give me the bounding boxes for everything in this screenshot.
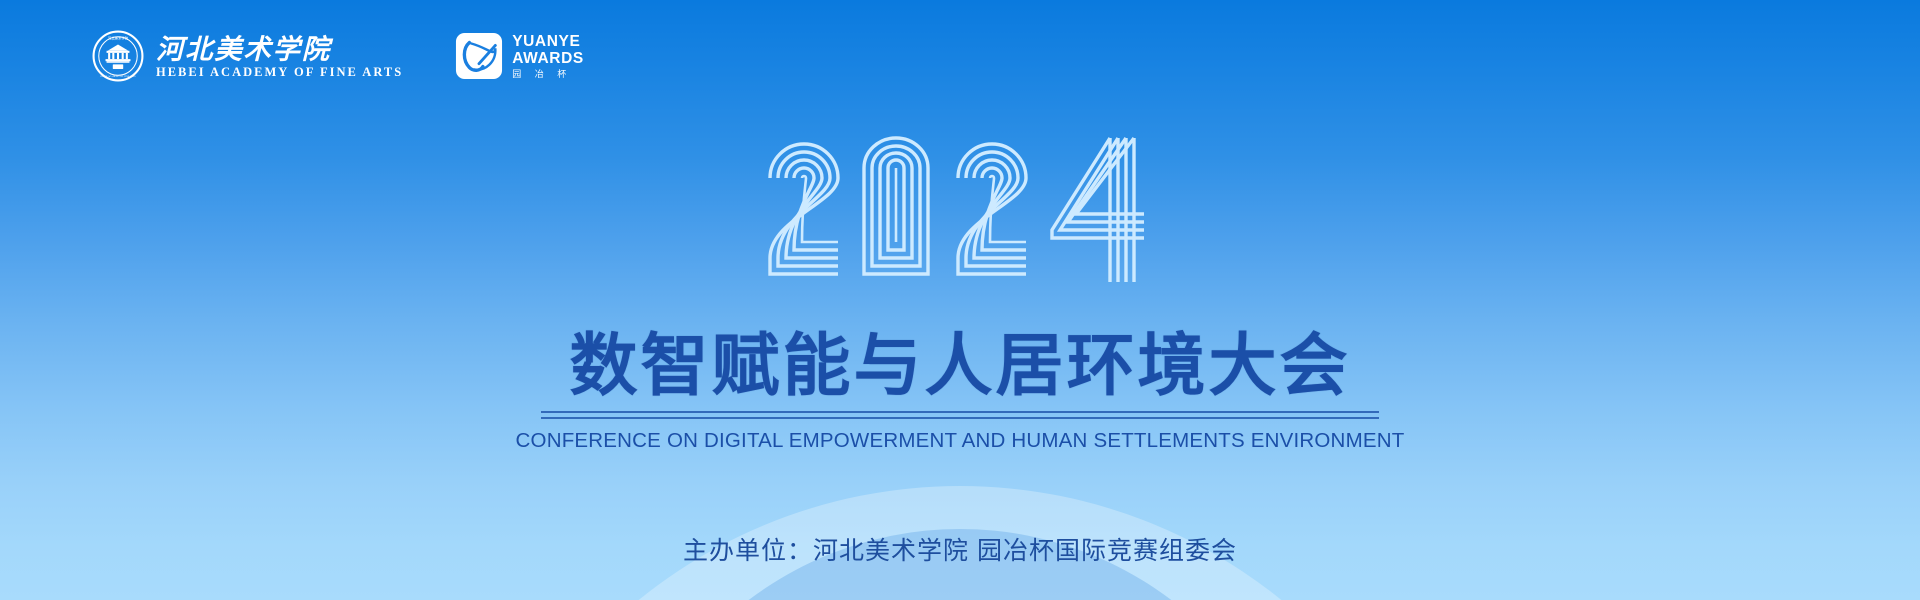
hebei-academy-logo: 河北美术学院 HEBEI ACADEMY OF FINE ARTS 河北美术学院… <box>92 30 403 82</box>
title-divider-line-1 <box>541 411 1379 413</box>
conference-title-english: CONFERENCE ON DIGITAL EMPOWERMENT AND HU… <box>0 429 1920 453</box>
hebei-english-name: HEBEI ACADEMY OF FINE ARTS <box>156 66 403 79</box>
hebei-academy-wordmark: 河北美术学院 HEBEI ACADEMY OF FINE ARTS <box>156 33 403 79</box>
university-seal-icon: 河北美术学院 HEBEI ACADEMY OF FINE ARTS <box>92 30 144 82</box>
hebei-chinese-name-icon: 河北美术学院 <box>156 33 344 65</box>
yuanye-chinese-name: 园 冶 杯 <box>512 70 572 79</box>
title-block: 数智赋能与人居环境大会 CONFERENCE ON DIGITAL EMPOWE… <box>0 330 1920 453</box>
yuanye-mark-icon <box>455 32 503 80</box>
conference-title-chinese: 数智赋能与人居环境大会 <box>0 330 1920 402</box>
logo-row: 河北美术学院 HEBEI ACADEMY OF FINE ARTS 河北美术学院… <box>92 30 584 82</box>
yuanye-wordmark: YUANYE AWARDS 园 冶 杯 <box>512 34 584 79</box>
title-divider-line-2 <box>541 417 1379 419</box>
year-2024-icon <box>760 126 1160 286</box>
svg-text:河北美术学院: 河北美术学院 <box>108 35 129 40</box>
hebei-chinese-name: 河北美术学院 <box>156 35 334 65</box>
yuanye-awards-logo: YUANYE AWARDS 园 冶 杯 <box>455 32 584 80</box>
year-graphic <box>760 126 1160 286</box>
title-divider <box>541 411 1379 419</box>
yuanye-line2: AWARDS <box>512 51 584 67</box>
conference-banner: 河北美术学院 HEBEI ACADEMY OF FINE ARTS 河北美术学院… <box>0 0 1920 600</box>
yuanye-line1: YUANYE <box>512 34 580 50</box>
host-organizations: 主办单位：河北美术学院 园冶杯国际竞赛组委会 <box>0 531 1920 567</box>
svg-text:HEBEI ACADEMY OF FINE ARTS: HEBEI ACADEMY OF FINE ARTS <box>100 75 136 78</box>
